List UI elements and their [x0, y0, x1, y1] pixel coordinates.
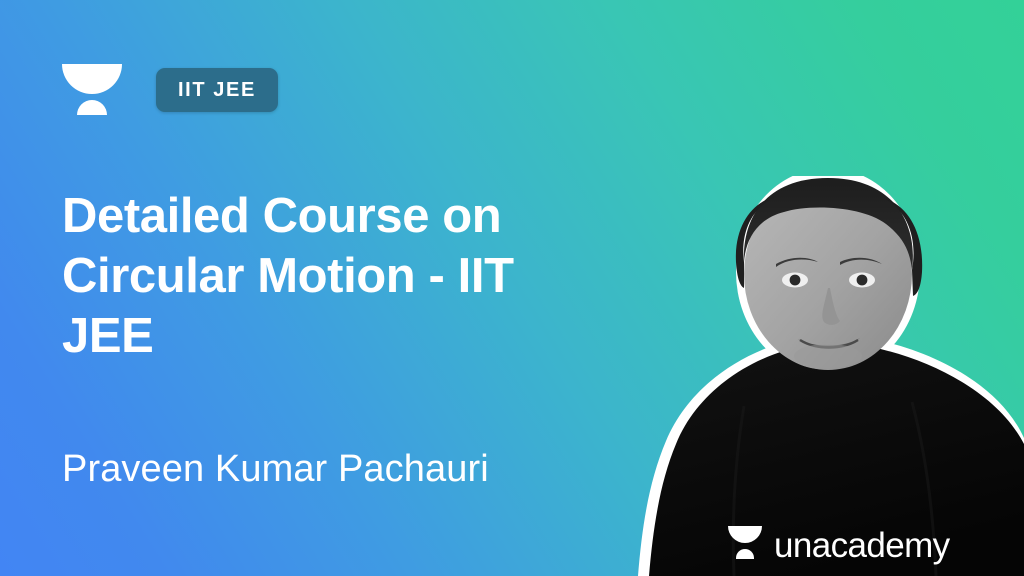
logo-base-shape — [77, 100, 107, 115]
tshirt-brand-name: unacademy — [774, 528, 950, 563]
logo-bowl-shape — [728, 526, 762, 543]
category-badge[interactable]: IIT JEE — [156, 68, 278, 112]
course-thumbnail-card: IIT JEE Detailed Course on Circular Moti… — [0, 0, 1024, 576]
unacademy-bowl-logo-icon — [728, 526, 762, 564]
course-title: Detailed Course on Circular Motion - IIT… — [62, 186, 562, 366]
educator-portrait-cutout — [594, 176, 1024, 576]
tshirt-brand-logo: unacademy — [728, 526, 950, 564]
logo-bowl-shape — [62, 64, 122, 94]
instructor-name: Praveen Kumar Pachauri — [62, 446, 582, 492]
logo-base-shape — [736, 549, 754, 559]
unacademy-bowl-logo-icon — [62, 60, 122, 120]
thumbnail-header: IIT JEE — [62, 60, 278, 120]
